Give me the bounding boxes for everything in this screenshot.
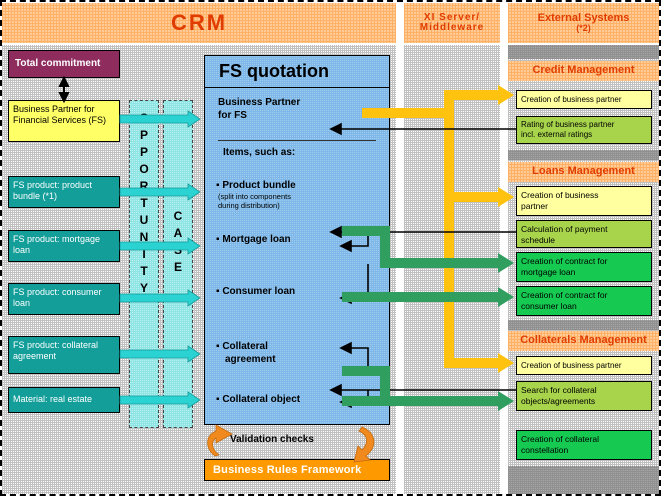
lane-letter: I — [142, 246, 145, 263]
external-item-label-line1: Rating of business partner — [521, 120, 614, 129]
external-separator-bottom — [508, 466, 659, 494]
object-label: FS product: collateral agreement — [13, 340, 98, 361]
group-title-credit-management: Credit Management — [508, 61, 659, 81]
fs-note-line2: during distribution) — [218, 201, 280, 210]
column-header-xi: XI Server/ Middleware — [404, 3, 500, 43]
fs-item-label-line1: Collateral — [222, 341, 268, 352]
lane-letter: P — [140, 127, 148, 144]
xi-column-background — [404, 45, 500, 494]
bullet-icon: ▪ — [216, 286, 220, 297]
fs-item-collateral-agreement[interactable]: ▪ Collateral agreement — [216, 341, 376, 366]
lane-letter: O — [139, 110, 148, 127]
lane-opportunity-letters: OPPORTUNITY — [129, 110, 159, 297]
lane-letter: S — [174, 242, 182, 259]
fs-business-partner-label: Business Partner for FS — [218, 97, 368, 122]
fs-item-collateral-object[interactable]: ▪ Collateral object — [216, 394, 376, 407]
external-item-collaterals-creation-bp[interactable]: Creation of business partner — [516, 356, 652, 375]
fs-quotation-title: FS quotation — [205, 56, 389, 88]
external-item-loans-creation-bp[interactable]: Creation of business partner — [516, 186, 652, 216]
external-item-label-line1: Creation of contract for — [521, 256, 607, 266]
external-item-loans-payment-schedule[interactable]: Calculation of payment schedule — [516, 220, 652, 248]
lane-case-letters: CASE — [163, 208, 193, 276]
external-separator-2 — [508, 320, 659, 330]
object-box-collateral-agreement[interactable]: FS product: collateral agreement — [8, 336, 120, 374]
group-title-collaterals-management: Collaterals Management — [508, 331, 659, 351]
fs-item-label: Product bundle — [222, 180, 295, 191]
bullet-icon: ▪ — [216, 234, 220, 245]
bullet-icon: ▪ — [216, 394, 220, 405]
fs-items-heading: Items, such as: — [223, 147, 373, 160]
external-item-label-line2: consumer loan — [521, 301, 577, 311]
external-item-credit-rating-bp[interactable]: Rating of business partner incl. externa… — [516, 116, 652, 144]
xi-label-line2: Middleware — [420, 23, 484, 34]
crm-label: CRM — [171, 11, 227, 34]
external-separator-top — [508, 45, 659, 59]
external-item-loans-contract-consumer[interactable]: Creation of contract for consumer loan — [516, 286, 652, 316]
external-item-label-line2: mortgage loan — [521, 267, 575, 277]
lane-letter: U — [140, 212, 149, 229]
column-header-crm: CRM — [2, 3, 396, 43]
object-label: FS product: product bundle (*1) — [13, 180, 92, 201]
group-title-loans-management: Loans Management — [508, 162, 659, 182]
object-box-material-real-estate[interactable]: Material: real estate — [8, 387, 120, 413]
object-box-business-partner-fs[interactable]: Business Partner for Financial Services … — [8, 100, 120, 142]
fs-item-label: Mortgage loan — [222, 234, 290, 245]
validation-checks-text: Validation checks — [230, 434, 314, 445]
lane-letter: N — [140, 229, 149, 246]
lane-letter: O — [139, 161, 148, 178]
external-item-label-line2: constellation — [521, 445, 568, 455]
object-box-total-commitment[interactable]: Total commitment — [8, 50, 120, 78]
validation-checks-label: Validation checks — [230, 434, 314, 445]
external-item-collaterals-search[interactable]: Search for collateral objects/agreements — [516, 381, 652, 411]
group-title-label: Loans Management — [532, 166, 635, 178]
lane-letter: T — [140, 263, 147, 280]
external-item-label-line2: objects/agreements — [521, 396, 595, 406]
fs-item-label-line2: agreement — [216, 354, 276, 365]
fs-item-label: Collateral object — [222, 394, 300, 405]
group-title-label: Credit Management — [532, 65, 634, 77]
fs-note-line1: (split into components — [218, 192, 291, 201]
external-item-label-line1: Creation of business — [521, 190, 599, 200]
fs-item-product-bundle-note: (split into components during distributi… — [218, 192, 383, 211]
object-box-product-bundle[interactable]: FS product: product bundle (*1) — [8, 176, 120, 208]
object-label: Total commitment — [15, 58, 100, 71]
fs-item-product-bundle[interactable]: ▪ Product bundle — [216, 180, 376, 193]
external-item-label: Creation of business partner — [521, 361, 622, 371]
lane-letter: P — [140, 144, 148, 161]
bullet-icon: ▪ — [216, 180, 220, 191]
fs-item-consumer-loan[interactable]: ▪ Consumer loan — [216, 286, 376, 299]
lane-letter: R — [140, 178, 149, 195]
external-item-loans-contract-mortgage[interactable]: Creation of contract for mortgage loan — [516, 252, 652, 282]
fs-items-heading-label: Items, such as: — [223, 147, 295, 158]
group-title-label: Collaterals Management — [520, 335, 647, 347]
fs-bp-line2: for FS — [218, 110, 247, 121]
external-item-label-line1: Search for collateral — [521, 385, 597, 395]
external-item-collaterals-constellation[interactable]: Creation of collateral constellation — [516, 430, 652, 460]
lane-letter: T — [140, 195, 147, 212]
fs-item-mortgage-loan[interactable]: ▪ Mortgage loan — [216, 234, 376, 247]
lane-letter: C — [174, 208, 183, 225]
object-label: Material: real estate — [13, 394, 92, 405]
external-label-line2: (*2) — [576, 24, 591, 33]
bullet-icon: ▪ — [216, 341, 220, 352]
external-item-label-line2: schedule — [521, 235, 555, 245]
fs-bp-line1: Business Partner — [218, 97, 300, 108]
business-rules-label: Business Rules Framework — [213, 464, 361, 476]
object-label: FS product: mortgage loan — [13, 234, 100, 255]
lane-letter: A — [174, 225, 183, 242]
business-rules-framework-box[interactable]: Business Rules Framework — [204, 459, 390, 481]
object-label: FS product: consumer loan — [13, 287, 102, 308]
external-item-label: Creation of business partner — [521, 95, 622, 105]
column-header-external: External Systems (*2) — [508, 3, 659, 43]
fs-divider — [218, 140, 376, 141]
external-separator-1 — [508, 150, 659, 160]
lane-letter: Y — [140, 280, 148, 297]
object-box-mortgage-loan[interactable]: FS product: mortgage loan — [8, 230, 120, 262]
external-item-label-line2: partner — [521, 201, 548, 211]
external-item-label-line1: Creation of collateral — [521, 434, 599, 444]
object-label: Business Partner for Financial Services … — [13, 104, 106, 125]
object-box-consumer-loan[interactable]: FS product: consumer loan — [8, 283, 120, 315]
lane-letter: E — [174, 259, 182, 276]
fs-quotation-title-label: FS quotation — [219, 61, 329, 82]
external-item-label-line1: Calculation of payment — [521, 224, 607, 234]
external-item-label-line1: Creation of contract for — [521, 290, 607, 300]
external-item-credit-creation-bp[interactable]: Creation of business partner — [516, 90, 652, 109]
fs-item-label: Consumer loan — [222, 286, 295, 297]
external-item-label-line2: incl. external ratings — [521, 130, 592, 139]
